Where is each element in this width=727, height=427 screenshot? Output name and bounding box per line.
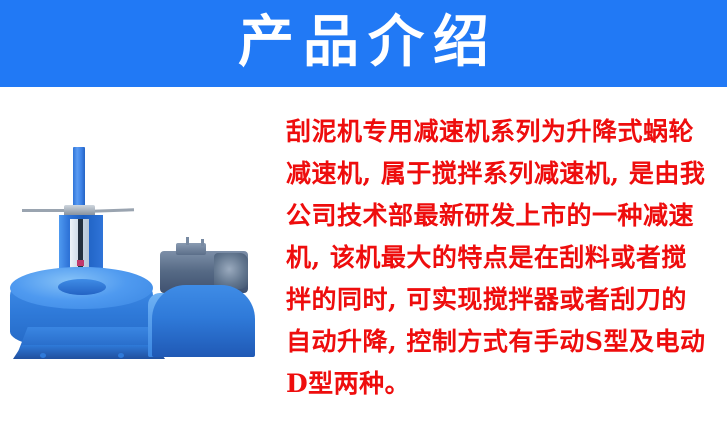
- description-line: 公司技术部最新研发上市的一种减速: [286, 195, 686, 237]
- gearbox-hub: [58, 279, 106, 295]
- product-introduction-page: 产品介绍: [0, 0, 727, 427]
- motor-stud-right: [201, 239, 204, 246]
- gearbox-base-plate: [13, 345, 165, 359]
- description-line: 自动升降, 控制方式有手动S型及电动: [286, 321, 686, 363]
- base-foot-right: [118, 353, 124, 358]
- product-description: 刮泥机专用减速机系列为升降式蜗轮 减速机, 属于搅拌系列减速机, 是由我 公司技…: [286, 111, 686, 405]
- cross-arm-right: [92, 208, 134, 212]
- cross-arm-left: [22, 209, 68, 212]
- belt-guard-cover: [152, 285, 255, 357]
- base-foot-left: [40, 353, 46, 358]
- header-banner: 产品介绍: [0, 0, 727, 87]
- description-line: 机, 该机最大的特点是在刮料或者搅: [286, 237, 686, 279]
- page-title: 产品介绍: [0, 0, 727, 87]
- description-line: 拌的同时, 可实现搅拌器或者刮刀的: [286, 279, 686, 321]
- description-line: 减速机, 属于搅拌系列减速机, 是由我: [286, 153, 686, 195]
- description-line: D型两种。: [286, 363, 686, 405]
- content-area: 刮泥机专用减速机系列为升降式蜗轮 减速机, 属于搅拌系列减速机, 是由我 公司技…: [0, 87, 727, 427]
- description-line: 刮泥机专用减速机系列为升降式蜗轮: [286, 111, 686, 153]
- column-indicator-mark: [77, 260, 84, 266]
- motor-stud-left: [186, 237, 189, 245]
- motor-fan-cover: [214, 253, 248, 289]
- product-photo: [0, 127, 270, 417]
- lifting-shaft: [73, 147, 85, 209]
